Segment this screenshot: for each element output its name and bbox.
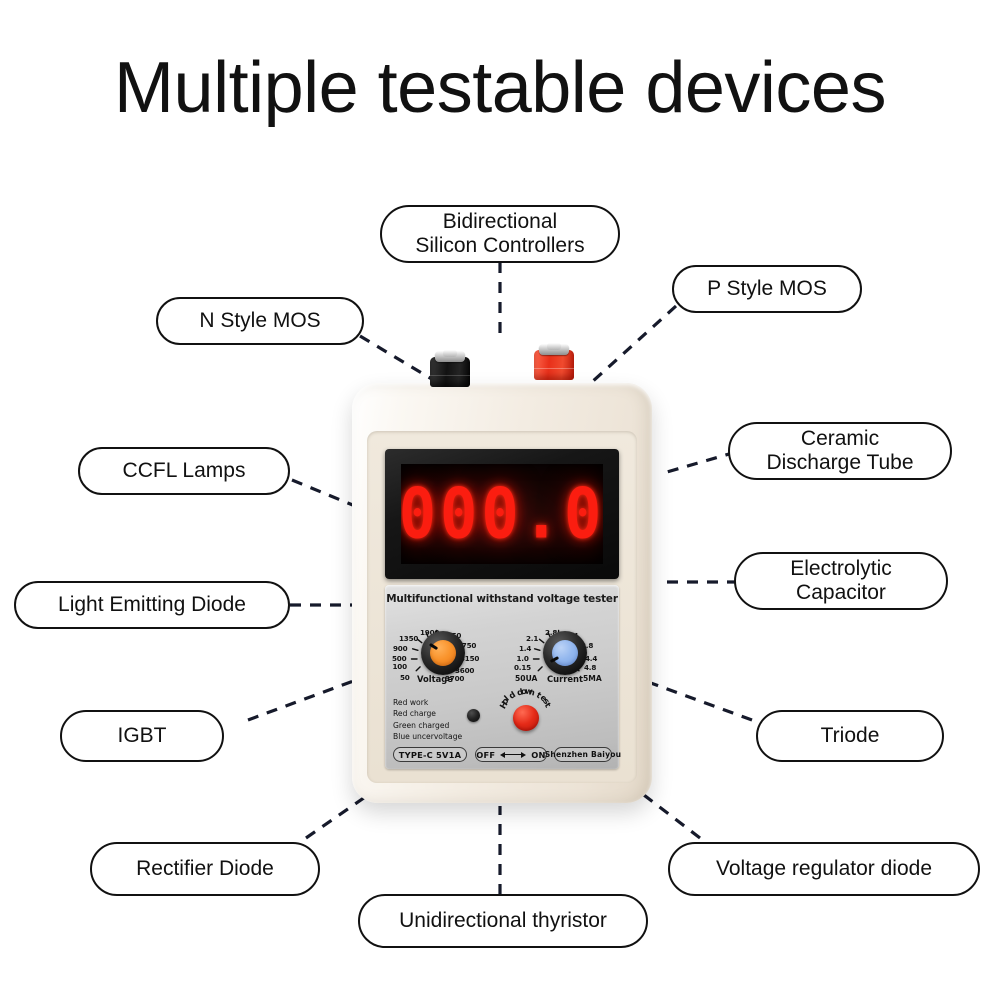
power-switch[interactable]: OFF ON (475, 747, 547, 762)
voltage-label-500: 500 (392, 654, 406, 663)
callout-line-1: Bidirectional (415, 210, 584, 234)
connector-ccfl-lamps (292, 480, 360, 508)
callout-line-2: Discharge Tube (766, 451, 913, 475)
callout-p-style-mos[interactable]: P Style MOS (672, 265, 862, 313)
current-max-label: 5MA (583, 674, 602, 683)
connector-ceramic-discharge-tube (660, 452, 736, 474)
status-led-indicator (467, 709, 480, 722)
current-dial-knob[interactable] (543, 631, 587, 675)
callout-n-style-mos[interactable]: N Style MOS (156, 297, 364, 345)
current-label-21: 2.1 (526, 634, 538, 643)
voltage-dial-knob[interactable] (421, 631, 465, 675)
voltage-dial-name: Voltage (417, 674, 453, 684)
callout-line-2: Silicon Controllers (415, 234, 584, 258)
negative-terminal[interactable] (430, 349, 470, 387)
led-legend-red-work: Red work (393, 697, 479, 708)
terminal-screw (547, 343, 561, 350)
led-display-screen: 000.0 (401, 464, 603, 564)
power-spec-badge: TYPE-C 5V1A (393, 747, 467, 762)
voltage-dial-cap (430, 640, 456, 666)
callout-ceramic-discharge-tube[interactable]: Ceramic Discharge Tube (728, 422, 952, 480)
callout-ccfl-lamps[interactable]: CCFL Lamps (78, 447, 290, 495)
callout-triode[interactable]: Triode (756, 710, 944, 762)
panel-title: Multifunctional withstand voltage tester (385, 593, 619, 605)
led-legend-blue-undervoltage: Blue uncervoltage (393, 731, 479, 742)
voltage-label-900: 900 (393, 644, 407, 653)
current-dial[interactable]: 0.15 1.0 1.4 2.1 2.8 3.4 3.8 4.4 4.8 50U… (515, 613, 611, 691)
callout-light-emitting-diode[interactable]: Light Emitting Diode (14, 581, 290, 629)
callout-electrolytic-capacitor[interactable]: Electrolytic Capacitor (734, 552, 948, 610)
voltage-tester-device: 000.0 Multifunctional withstand voltage … (352, 383, 652, 803)
voltage-label-50: 50 (400, 673, 410, 682)
callout-line-1: Ceramic (766, 427, 913, 451)
terminal-seam (430, 375, 470, 377)
voltage-label-100: 100 (393, 662, 407, 671)
voltage-dial[interactable]: 50 100 500 900 1350 1900 2450 2750 3150 … (393, 613, 489, 691)
current-label-10: 1.0 (517, 654, 529, 663)
led-display-module: 000.0 (385, 449, 619, 579)
callout-bidirectional-silicon-controllers[interactable]: Bidirectional Silicon Controllers (380, 205, 620, 263)
callout-voltage-regulator-diode[interactable]: Voltage regulator diode (668, 842, 980, 896)
callout-rectifier-diode[interactable]: Rectifier Diode (90, 842, 320, 896)
brand-badge: Shenzhen Baiyou (554, 747, 612, 762)
connector-triode (648, 682, 752, 720)
terminal-screw (443, 350, 457, 357)
led-status-legend: Red work Red charge Green charged Blue u… (393, 697, 479, 742)
led-display-value: 000.0 (401, 479, 603, 548)
current-label-14: 1.4 (519, 644, 531, 653)
callout-igbt[interactable]: IGBT (60, 710, 224, 762)
control-panel: Multifunctional withstand voltage tester (385, 585, 619, 769)
led-legend-green-charged: Green charged (393, 720, 479, 731)
voltage-label-1350: 1350 (399, 634, 418, 643)
current-dial-name: Current (547, 674, 583, 684)
hold-down-test-button[interactable] (513, 705, 539, 731)
connector-n-style-mos (360, 336, 440, 384)
terminal-seam (534, 368, 574, 370)
callout-unidirectional-thyristor[interactable]: Unidirectional thyristor (358, 894, 648, 948)
switch-arrow-icon (500, 751, 526, 758)
callout-line-1: Electrolytic (790, 557, 892, 581)
current-label-015: 0.15 (514, 663, 531, 672)
current-label-48: 4.8 (584, 663, 596, 672)
switch-on-label: ON (531, 750, 545, 760)
switch-off-label: OFF (476, 750, 495, 760)
connector-igbt (248, 680, 356, 720)
positive-terminal[interactable] (534, 342, 574, 380)
test-button-assembly[interactable]: Hold down test (495, 693, 557, 743)
current-dial-cap (552, 640, 578, 666)
current-min-label: 50UA (515, 674, 537, 683)
page-title: Multiple testable devices (0, 52, 1000, 124)
connector-p-style-mos (592, 306, 676, 382)
callout-line-2: Capacitor (790, 581, 892, 605)
